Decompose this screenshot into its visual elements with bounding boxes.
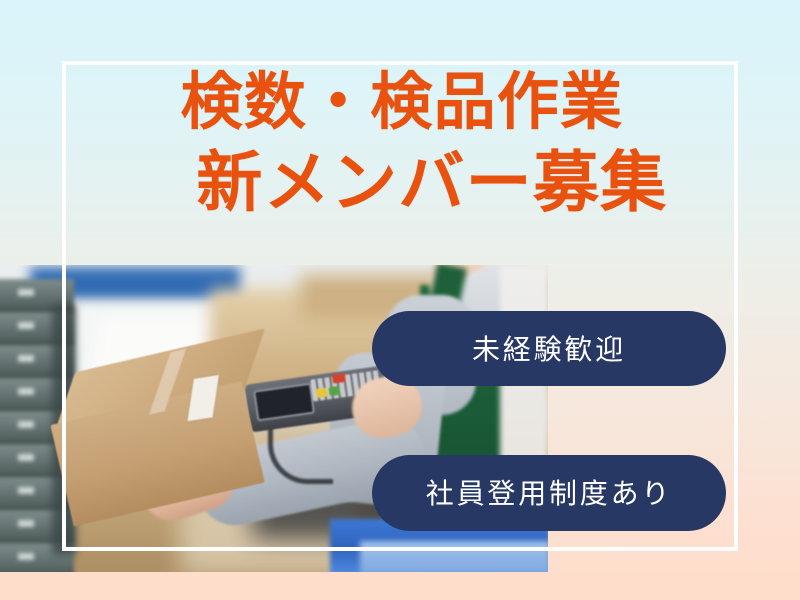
- headline-line-1: 検数・検品作業: [62, 70, 738, 133]
- badge-full-time-conversion: 社員登用制度あり: [372, 455, 726, 531]
- bottom-accent-band: [0, 572, 800, 600]
- page-title: 検数・検品作業 新メンバー募集: [62, 70, 738, 217]
- badge-label: 社員登用制度あり: [426, 472, 672, 512]
- badge-no-experience-required: 未経験歓迎: [372, 311, 726, 386]
- badge-label: 未経験歓迎: [472, 328, 626, 368]
- scanner-green-key: [328, 386, 340, 396]
- scanner-red-key: [332, 373, 346, 384]
- headline-line-2: 新メンバー募集: [62, 149, 738, 216]
- recruitment-poster: 検数・検品作業 新メンバー募集 未経験歓迎 社員登用制度あり: [0, 0, 800, 600]
- scanner-yellow-key: [316, 388, 328, 398]
- blue-crate-front: [360, 541, 548, 573]
